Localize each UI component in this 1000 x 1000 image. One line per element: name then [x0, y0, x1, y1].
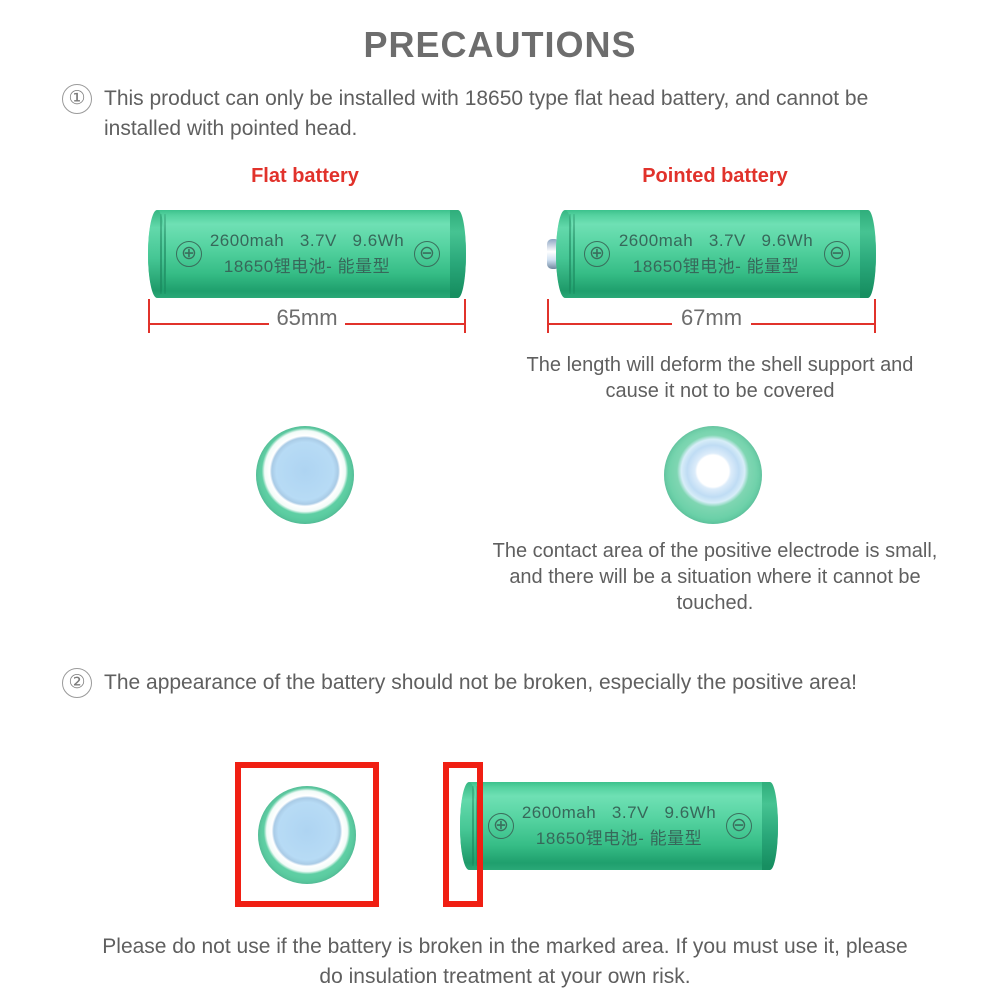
item-text-2: The appearance of the battery should not…	[104, 668, 857, 698]
precaution-item-2: ② The appearance of the battery should n…	[62, 668, 942, 698]
contact-area-caption: The contact area of the positive electro…	[490, 538, 940, 616]
broken-area-battery-illustration: ⊕ ⊖ 2600mah 3.7V 9.6Wh 18650锂电池- 能量型	[460, 782, 778, 870]
pointed-battery-dimension: 67mm	[547, 299, 876, 335]
pointed-battery-label: Pointed battery	[590, 165, 840, 188]
item-number-1: ①	[62, 84, 92, 114]
pointed-battery-illustration: ⊕ ⊖ 2600mah 3.7V 9.6Wh 18650锂电池- 能量型	[556, 210, 876, 298]
page-title: PRECAUTIONS	[0, 24, 1000, 66]
battery-spec-line: 2600mah 3.7V 9.6Wh	[210, 231, 404, 251]
item-text-1: This product can only be installed with …	[104, 84, 942, 144]
length-deform-caption: The length will deform the shell support…	[520, 352, 920, 404]
dimension-value: 65mm	[148, 305, 466, 331]
battery-model-line: 18650锂电池- 能量型	[633, 252, 799, 277]
dimension-value: 67mm	[547, 305, 876, 331]
flat-battery-label: Flat battery	[180, 165, 430, 188]
marked-area-box-positive-end	[443, 762, 483, 907]
flat-battery-illustration: ⊕ ⊖ 2600mah 3.7V 9.6Wh 18650锂电池- 能量型	[148, 210, 466, 298]
flat-battery-dimension: 65mm	[148, 299, 466, 335]
marked-area-box-terminal	[235, 762, 379, 907]
battery-spec-line: 2600mah 3.7V 9.6Wh	[619, 231, 813, 251]
battery-model-line: 18650锂电池- 能量型	[224, 252, 390, 277]
battery-label-text: 2600mah 3.7V 9.6Wh 18650锂电池- 能量型	[148, 210, 466, 298]
battery-label-text: 2600mah 3.7V 9.6Wh 18650锂电池- 能量型	[556, 210, 876, 298]
bottom-warning-caption: Please do not use if the battery is brok…	[90, 932, 920, 992]
flat-head-top-view	[256, 426, 354, 524]
item-number-2: ②	[62, 668, 92, 698]
battery-spec-line: 2600mah 3.7V 9.6Wh	[522, 803, 716, 823]
pointed-head-top-view	[664, 426, 762, 524]
battery-label-text: 2600mah 3.7V 9.6Wh 18650锂电池- 能量型	[460, 782, 778, 870]
battery-model-line: 18650锂电池- 能量型	[536, 824, 702, 849]
precaution-item-1: ① This product can only be installed wit…	[62, 84, 942, 144]
